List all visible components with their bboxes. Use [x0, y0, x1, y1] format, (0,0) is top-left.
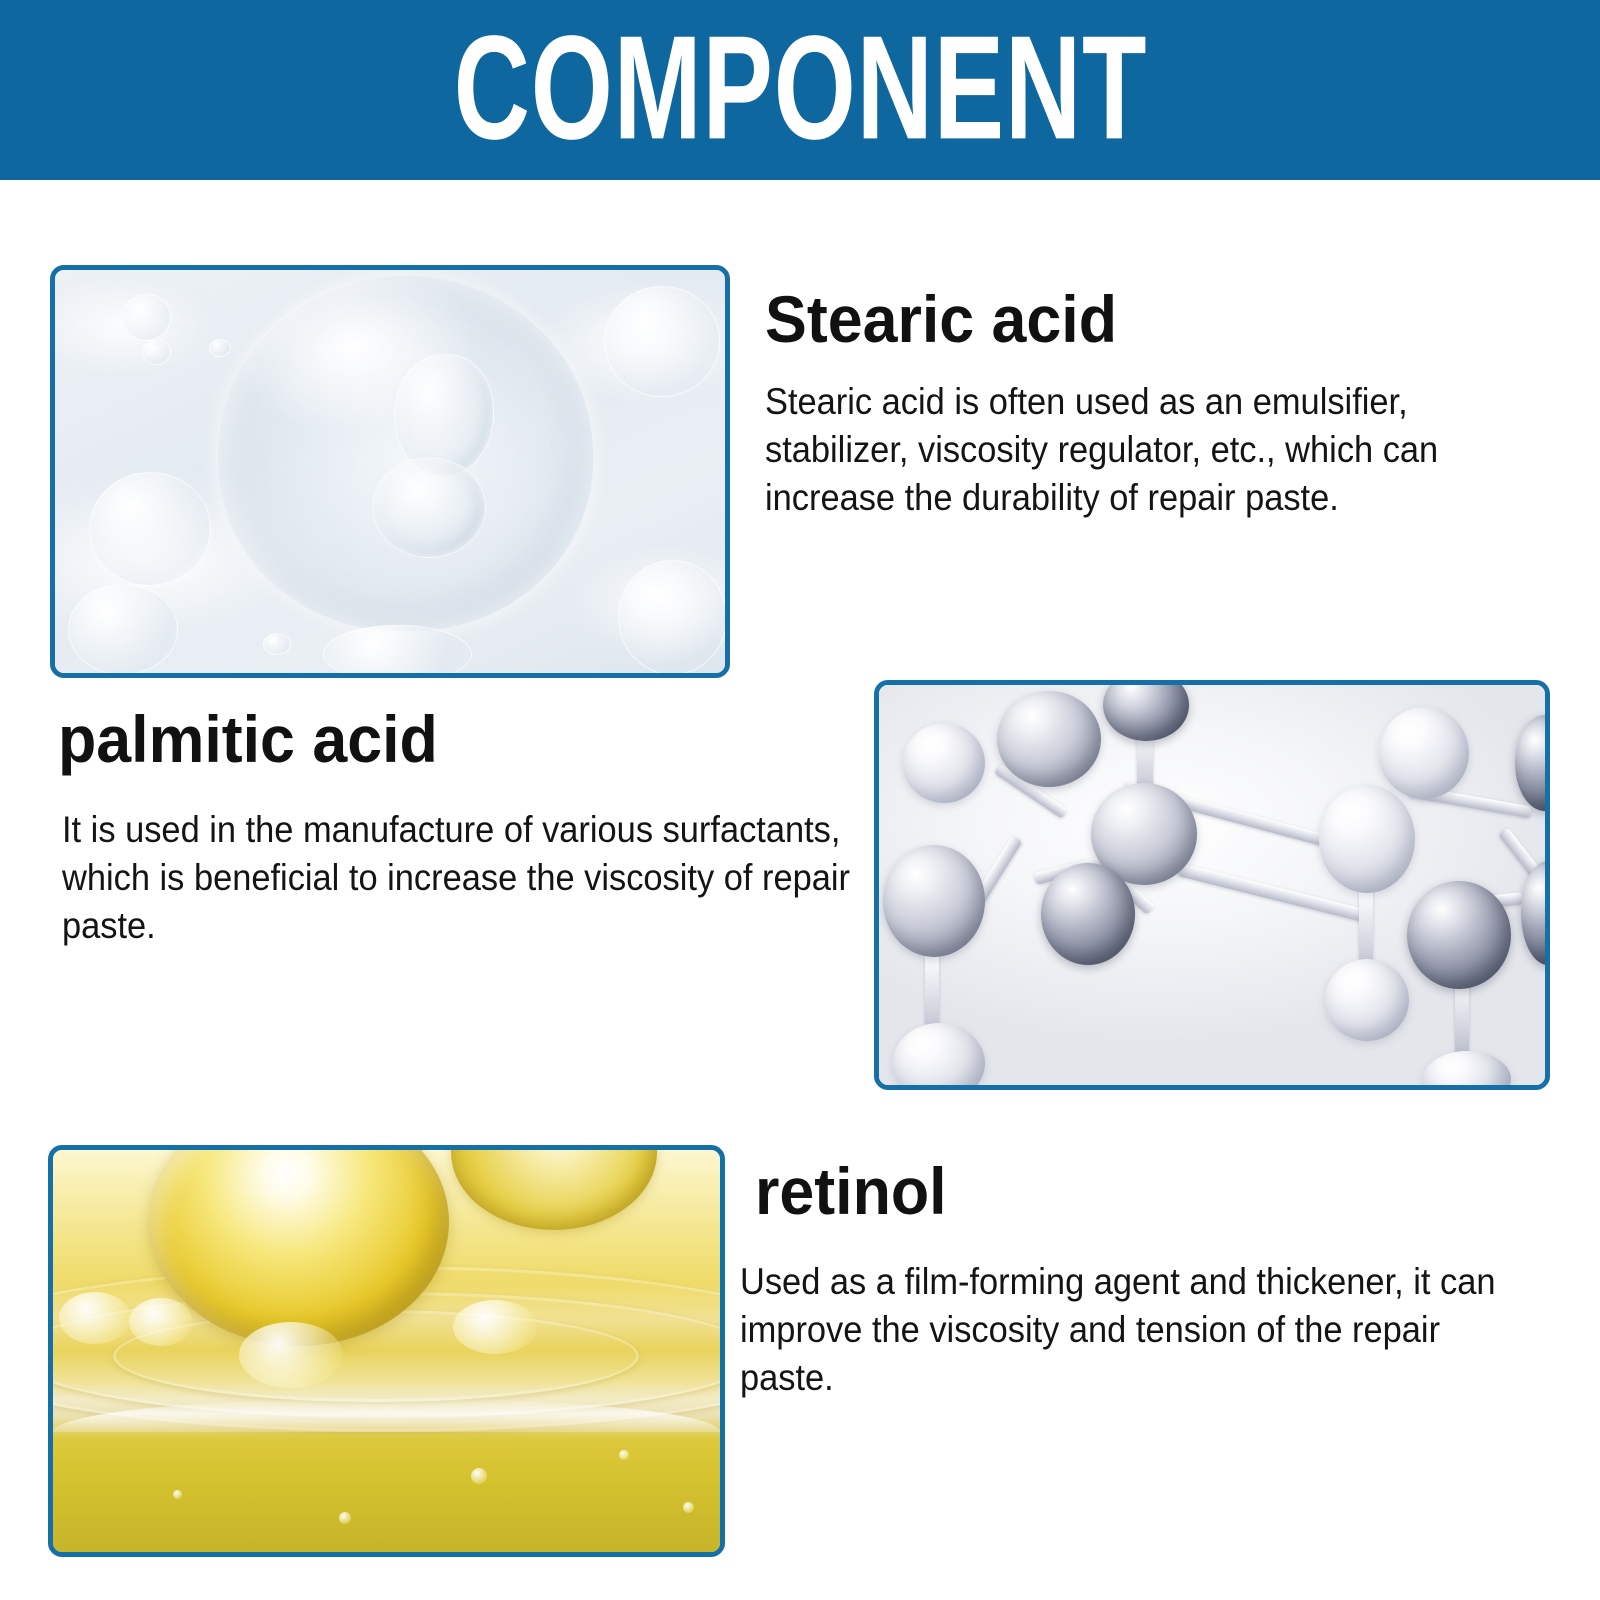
atom-5: [1041, 863, 1135, 965]
atom-6: [883, 845, 985, 957]
deep-bubble-1: [471, 1468, 487, 1484]
stearic-acid-image-frame: [50, 265, 730, 678]
surface-bubble-4: [453, 1300, 537, 1354]
palmitic-acid-image-frame: [874, 680, 1550, 1090]
mini-bubble-3: [209, 339, 231, 357]
mini-bubble-2: [142, 339, 171, 365]
deep-bubble-2: [339, 1512, 351, 1524]
mini-bubble-7: [618, 560, 725, 673]
page-title: COMPONENT: [453, 14, 1147, 162]
atom-9: [1379, 707, 1469, 799]
molecular-model-photo: [879, 685, 1545, 1085]
surface-bubble-1: [59, 1292, 131, 1344]
deep-bubble-3: [619, 1450, 629, 1460]
atom-1: [903, 723, 985, 803]
stearic-acid-description: Stearic acid is often used as an emulsif…: [765, 378, 1556, 522]
atom-13: [1325, 959, 1409, 1041]
header-banner: COMPONENT: [0, 0, 1600, 180]
deep-bubble-4: [173, 1490, 182, 1499]
deep-bubble-5: [683, 1502, 694, 1513]
mini-bubble-6: [604, 286, 720, 397]
mini-bubble-1: [122, 294, 171, 340]
large-bubble-shape: [216, 274, 595, 633]
golden-oil-droplet-photo: [53, 1150, 720, 1552]
atom-11: [1407, 881, 1511, 989]
mini-bubble-5: [68, 584, 177, 673]
inner-bubble-bottom: [372, 457, 487, 558]
retinol-title: retinol: [755, 1155, 947, 1227]
palmitic-acid-description: It is used in the manufacture of various…: [62, 806, 853, 950]
mini-bubble-9: [263, 633, 292, 655]
stearic-acid-title: Stearic acid: [765, 283, 1117, 355]
surface-bubble-2: [129, 1298, 193, 1346]
mini-bubble-4: [89, 472, 212, 587]
retinol-description: Used as a film-forming agent and thicken…: [740, 1258, 1531, 1402]
retinol-image-frame: [48, 1145, 725, 1557]
surface-bubble-3: [239, 1322, 343, 1388]
transparent-bubbles-photo: [55, 270, 725, 673]
palmitic-acid-title: palmitic acid: [58, 703, 438, 775]
atom-8: [1319, 785, 1415, 893]
atom-2: [997, 691, 1101, 787]
